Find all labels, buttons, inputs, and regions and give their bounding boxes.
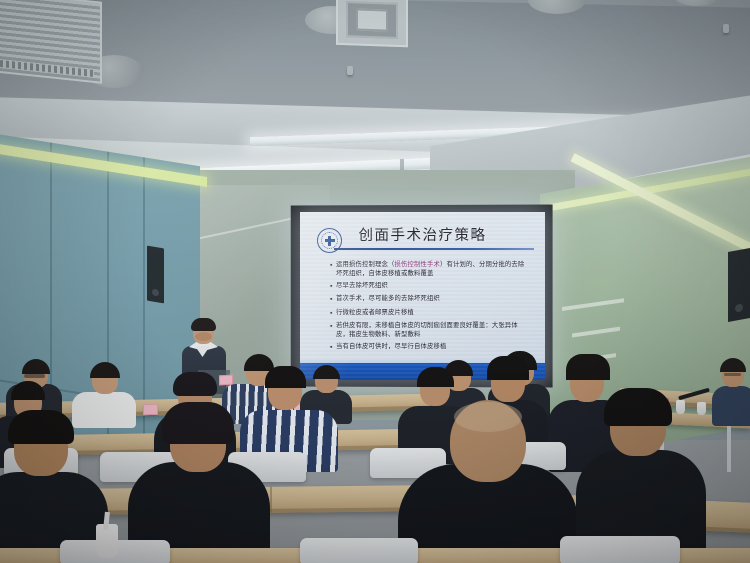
chair [300, 538, 418, 563]
lecture-room-photo: 创面手术治疗策略 ▪运用损伤控制理念（损伤控制性手术）有计划的、分期分批的去除坏… [0, 0, 750, 563]
audience-member-foreground [398, 400, 578, 563]
presenter-face-shadow [195, 332, 212, 341]
recessed-downlight-icon [672, 0, 722, 6]
sprinkler-head-icon [723, 24, 729, 33]
beanie-hat [173, 372, 217, 396]
beanie-hat [162, 402, 234, 444]
desk-leg [727, 424, 731, 472]
sprinkler-head-icon [347, 66, 353, 75]
square-air-diffuser-icon [336, 0, 408, 47]
wall-speaker-icon [147, 246, 164, 304]
bald-highlight [454, 402, 522, 432]
side-attendee [712, 360, 750, 422]
chair [560, 536, 680, 563]
audience-member-foreground [128, 406, 270, 556]
presenter-hair [191, 318, 216, 331]
audience-member-foreground [576, 396, 706, 556]
hvac-grille-icon [0, 0, 102, 84]
wall-speaker-icon [728, 248, 750, 322]
